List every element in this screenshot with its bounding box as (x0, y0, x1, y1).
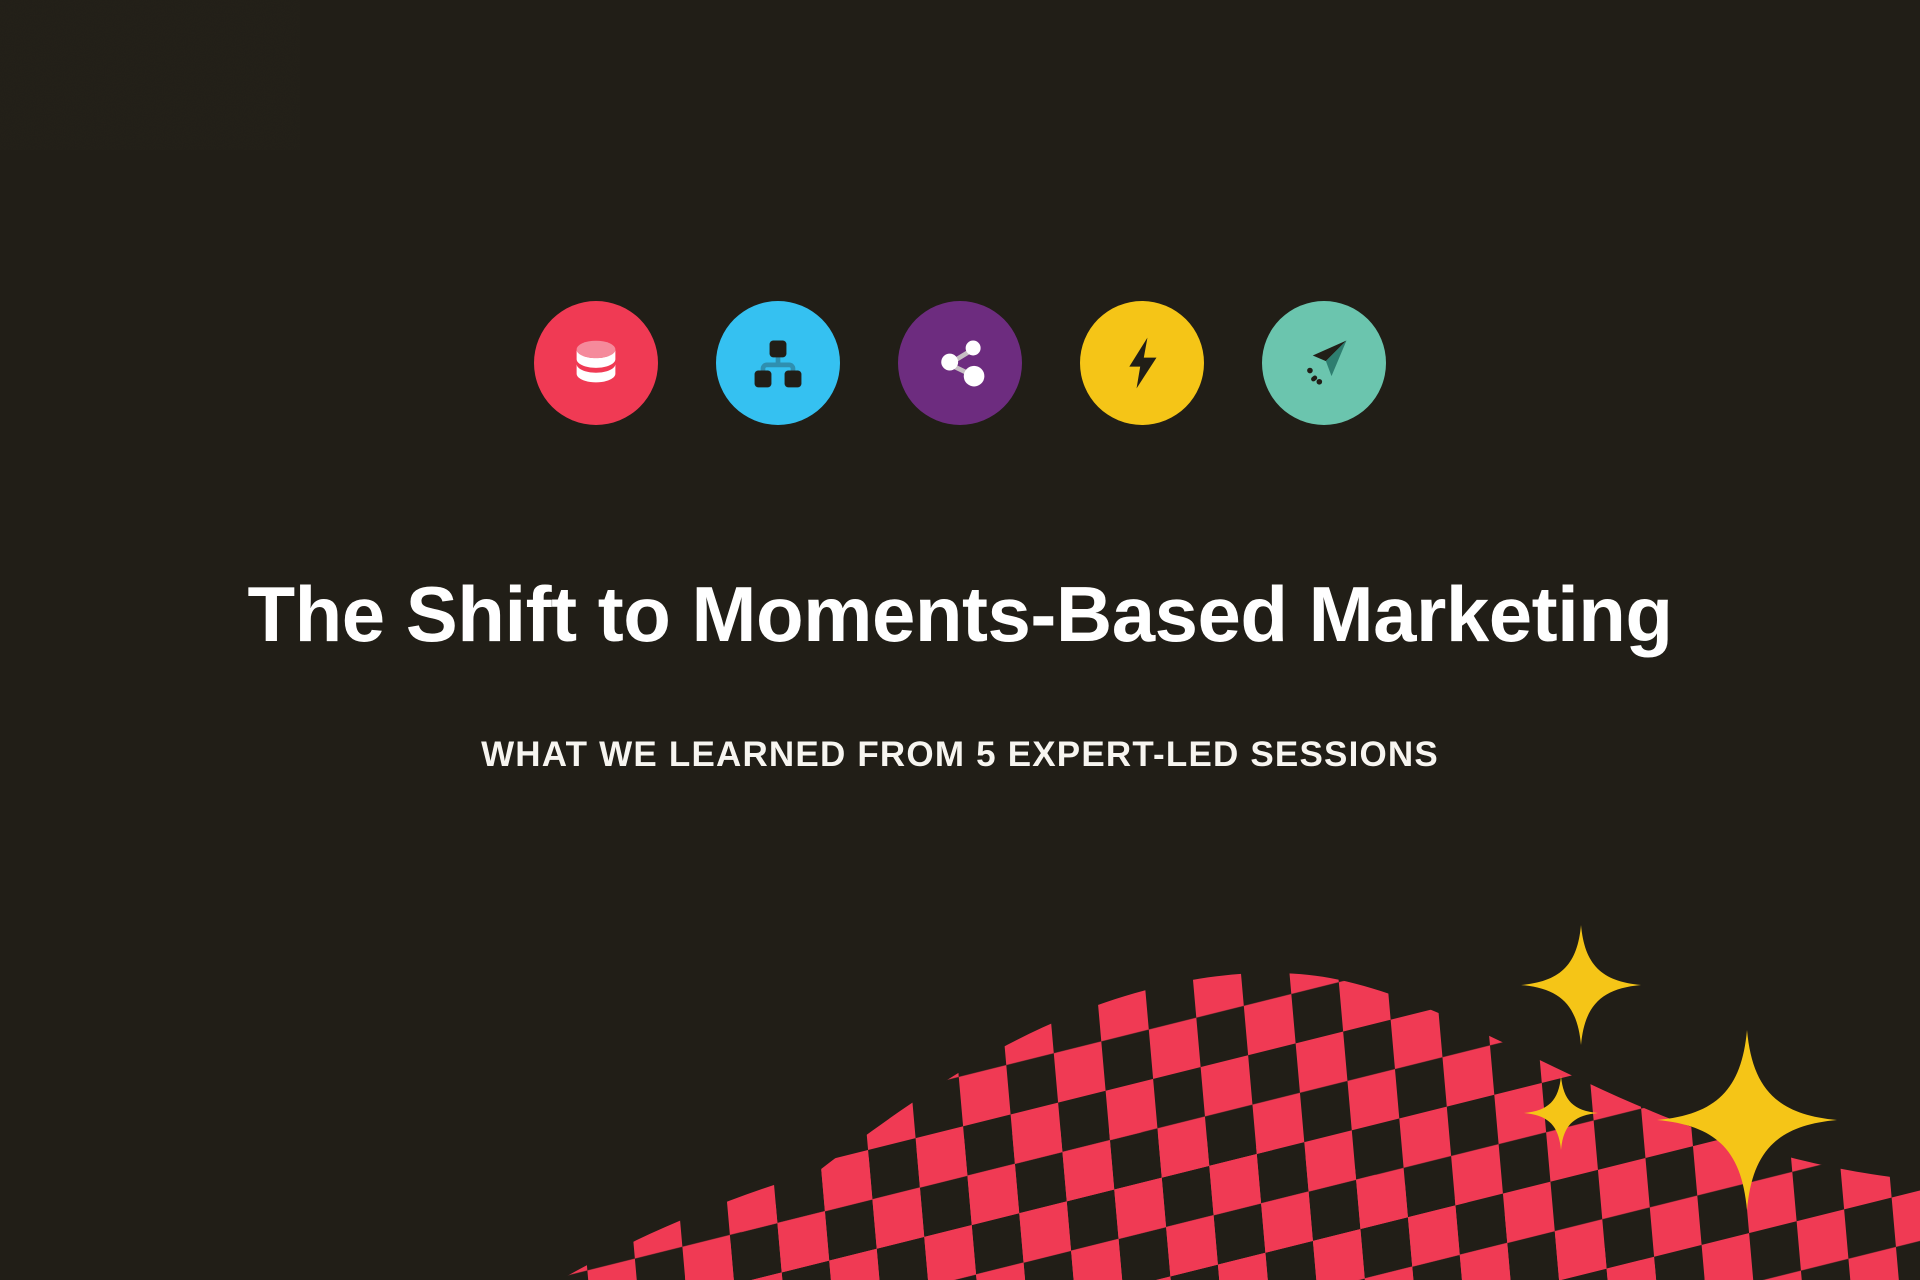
grain-texture-overlay (0, 0, 300, 150)
poster-canvas: The Shift to Moments-Based Marketing WHA… (0, 0, 1920, 1280)
send-icon (1294, 333, 1354, 393)
lightning-icon (1113, 334, 1171, 392)
page-title: The Shift to Moments-Based Marketing (0, 572, 1920, 656)
share-icon (930, 333, 990, 393)
icon-badge-database[interactable] (534, 301, 658, 425)
icon-badge-share[interactable] (898, 301, 1022, 425)
sitemap-icon (748, 333, 808, 393)
icon-badge-lightning[interactable] (1080, 301, 1204, 425)
sparkle-small-bottom-icon (1524, 1076, 1598, 1150)
page-subtitle: WHAT WE LEARNED FROM 5 EXPERT-LED SESSIO… (0, 735, 1920, 775)
sparkle-large-bottom-icon (1657, 1030, 1837, 1210)
icon-badge-row (0, 301, 1920, 425)
icon-badge-send[interactable] (1262, 301, 1386, 425)
sparkle-large-top-icon (1521, 925, 1641, 1045)
database-icon (565, 332, 627, 394)
icon-badge-sitemap[interactable] (716, 301, 840, 425)
